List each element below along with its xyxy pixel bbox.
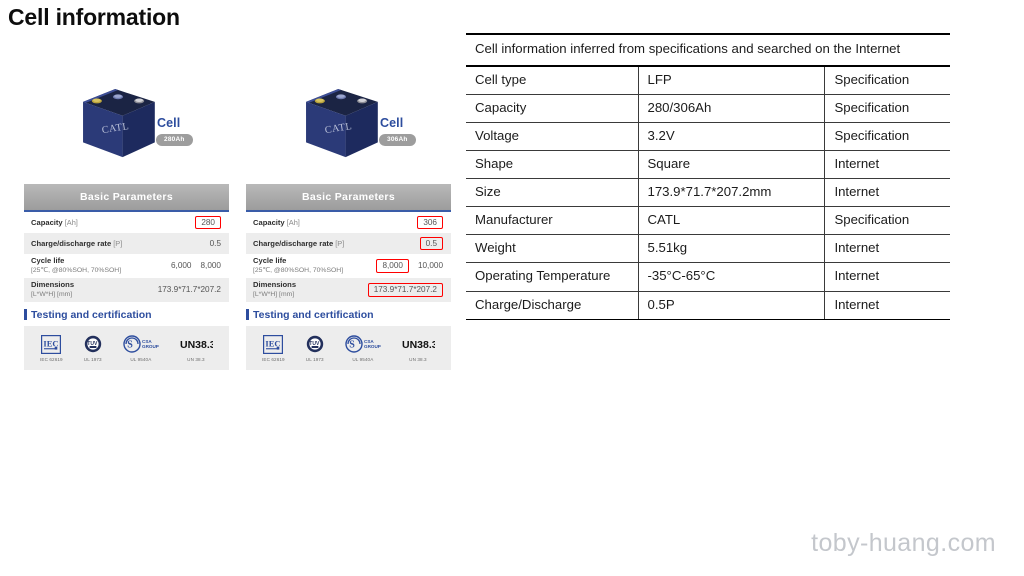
spec-row-values: 0.5 <box>420 237 443 251</box>
spec-row-dimensions: Dimensions [L*W*H] [mm] 173.9*71.7*207.2 <box>246 278 451 302</box>
table-cell-value: 173.9*71.7*207.2mm <box>638 179 825 207</box>
spec-label-text: Cycle life <box>253 256 286 265</box>
table-cell-key: Voltage <box>466 122 638 150</box>
svg-text:GROUP: GROUP <box>142 344 159 349</box>
table-cell-key: Shape <box>466 151 638 179</box>
un383-logo-icon: UN38.3 <box>401 334 435 355</box>
svg-text:UN38.3: UN38.3 <box>402 339 435 351</box>
table-cell-key: Size <box>466 179 638 207</box>
accent-bar-icon <box>24 309 27 320</box>
svg-text:GROUP: GROUP <box>364 344 381 349</box>
table-cell-key: Manufacturer <box>466 207 638 235</box>
spec-row-cycle-life: Cycle life [25℃, @80%SOH, 70%SOH] 6,000 … <box>24 254 229 278</box>
table-row: Voltage 3.2V Specification <box>466 122 950 150</box>
table-body: Cell type LFP Specification Capacity 280… <box>466 66 950 319</box>
battery-cell-icon: CATL <box>72 78 164 170</box>
svg-text:UN38.3: UN38.3 <box>180 339 213 351</box>
cert-item-csa: SCSAGROUP UL 9540A <box>345 334 381 362</box>
spec-row-values: 8,000 10,000 <box>376 259 443 273</box>
spec-card-306: Basic Parameters Capacity [Ah] 306 Charg… <box>246 184 451 370</box>
cert-item-tuv: TUV UL 1973 <box>83 334 103 362</box>
tuv-logo-icon: TUV <box>83 334 103 355</box>
table-row: Shape Square Internet <box>466 151 950 179</box>
spec-row-label: Capacity [Ah] <box>253 218 300 227</box>
spec-row-dimensions: Dimensions [L*W*H] [mm] 173.9*71.7*207.2 <box>24 278 229 302</box>
spec-label-unit: [P] <box>113 239 122 248</box>
spec-value-highlighted: 280 <box>195 216 221 230</box>
cert-caption: UL 9540A <box>352 357 373 362</box>
csa-group-logo-icon: SCSAGROUP <box>345 334 381 355</box>
spec-value-highlighted: 306 <box>417 216 443 230</box>
testing-section-heading: Testing and certification <box>246 309 451 321</box>
table-cell-source: Internet <box>825 235 950 263</box>
spec-label-text: Cycle life <box>31 256 64 265</box>
accent-bar-icon <box>246 309 249 320</box>
table-row: Weight 5.51kg Internet <box>466 235 950 263</box>
spec-row-capacity: Capacity [Ah] 306 <box>246 212 451 233</box>
cell-information-table: Cell information inferred from specifica… <box>466 33 950 320</box>
cert-item-csa: SCSAGROUP UL 9540A <box>123 334 159 362</box>
spec-row-values: 280 <box>195 216 221 230</box>
spec-label-sub: [25℃, @80%SOH, 70%SOH] <box>253 267 343 274</box>
table-row: Manufacturer CATL Specification <box>466 207 950 235</box>
table-cell-source: Internet <box>825 151 950 179</box>
spec-card-280: Basic Parameters Capacity [Ah] 280 Charg… <box>24 184 229 370</box>
spec-label-text: Charge/discharge rate <box>31 239 111 248</box>
testing-section-heading: Testing and certification <box>24 309 229 321</box>
spec-row-label: Cycle life [25℃, @80%SOH, 70%SOH] <box>31 256 121 276</box>
spec-value: 6,000 <box>171 261 192 270</box>
spec-label-text: Charge/discharge rate <box>253 239 333 248</box>
cert-caption: IEC 62619 <box>262 357 285 362</box>
table-cell-value: CATL <box>638 207 825 235</box>
spec-label-text: Capacity <box>31 218 63 227</box>
cert-caption: UL 1973 <box>306 357 324 362</box>
table-cell-key: Cell type <box>466 66 638 95</box>
spec-label-unit: [Ah] <box>287 218 300 227</box>
spec-card-header: Basic Parameters <box>246 184 451 212</box>
table-row: Charge/Discharge 0.5P Internet <box>466 291 950 319</box>
table-cell-source: Internet <box>825 263 950 291</box>
spec-row-values: 173.9*71.7*207.2 <box>368 283 443 297</box>
table-row: Operating Temperature -35°C-65°C Interne… <box>466 263 950 291</box>
table-caption-row: Cell information inferred from specifica… <box>466 34 950 66</box>
table-cell-key: Weight <box>466 235 638 263</box>
cert-caption: UL 9540A <box>130 357 151 362</box>
cert-caption: UL 1973 <box>84 357 102 362</box>
spec-value: 10,000 <box>418 261 443 270</box>
certification-strip: IEC IEC 62619 TUV UL 1973 SCSAGROUP UL 9… <box>24 326 229 370</box>
table-row: Size 173.9*71.7*207.2mm Internet <box>466 179 950 207</box>
table-cell-value: Square <box>638 151 825 179</box>
table-cell-value: LFP <box>638 66 825 95</box>
testing-heading-label: Testing and certification <box>31 309 152 321</box>
table-cell-source: Specification <box>825 207 950 235</box>
table-cell-value: 280/306Ah <box>638 94 825 122</box>
table-cell-source: Specification <box>825 94 950 122</box>
table-caption: Cell information inferred from specifica… <box>466 34 950 66</box>
spec-row-label: Charge/discharge rate [P] <box>31 239 122 248</box>
table-cell-key: Capacity <box>466 94 638 122</box>
table-cell-value: 0.5P <box>638 291 825 319</box>
cert-item-un383: UN38.3 UN 38.3 <box>401 334 435 362</box>
spec-label-sub: [25℃, @80%SOH, 70%SOH] <box>31 267 121 274</box>
iec-logo-icon: IEC <box>41 334 61 355</box>
spec-row-charge-rate: Charge/discharge rate [P] 0.5 <box>24 233 229 254</box>
table-cell-source: Internet <box>825 179 950 207</box>
spec-value: 8,000 <box>201 261 222 270</box>
table-cell-value: -35°C-65°C <box>638 263 825 291</box>
spec-label-sub: [L*W*H] [mm] <box>31 291 72 298</box>
certification-strip: IEC IEC 62619 TUV UL 1973 SCSAGROUP UL 9… <box>246 326 451 370</box>
cert-item-tuv: TUV UL 1973 <box>305 334 325 362</box>
table-cell-source: Specification <box>825 66 950 95</box>
spec-label-text: Dimensions <box>253 280 296 289</box>
cell-label-280: Cell <box>157 116 180 130</box>
spec-label-sub: [L*W*H] [mm] <box>253 291 294 298</box>
spec-row-label: Capacity [Ah] <box>31 218 78 227</box>
spec-row-capacity: Capacity [Ah] 280 <box>24 212 229 233</box>
spec-row-label: Cycle life [25℃, @80%SOH, 70%SOH] <box>253 256 343 276</box>
site-watermark: toby-huang.com <box>811 529 996 558</box>
cert-caption: UN 38.3 <box>187 357 205 362</box>
cell-label-306: Cell <box>380 116 403 130</box>
spec-row-charge-rate: Charge/discharge rate [P] 0.5 <box>246 233 451 254</box>
spec-row-cycle-life: Cycle life [25℃, @80%SOH, 70%SOH] 8,000 … <box>246 254 451 278</box>
table-cell-source: Specification <box>825 122 950 150</box>
tuv-logo-icon: TUV <box>305 334 325 355</box>
spec-label-text: Dimensions <box>31 280 74 289</box>
un383-logo-icon: UN38.3 <box>179 334 213 355</box>
spec-card-header: Basic Parameters <box>24 184 229 212</box>
iec-logo-icon: IEC <box>263 334 283 355</box>
spec-row-values: 306 <box>417 216 443 230</box>
cert-item-un383: UN38.3 UN 38.3 <box>179 334 213 362</box>
page-title: Cell information <box>8 4 180 31</box>
spec-label-unit: [P] <box>335 239 344 248</box>
table-cell-value: 3.2V <box>638 122 825 150</box>
spec-row-values: 173.9*71.7*207.2 <box>158 285 221 294</box>
spec-row-label: Dimensions [L*W*H] [mm] <box>31 280 74 300</box>
svg-text:S: S <box>349 339 355 350</box>
spec-card-header-label: Basic Parameters <box>80 191 173 203</box>
spec-value-highlighted: 173.9*71.7*207.2 <box>368 283 443 297</box>
cert-item-iec: IEC IEC 62619 <box>40 334 63 362</box>
cert-item-iec: IEC IEC 62619 <box>262 334 285 362</box>
table-row: Capacity 280/306Ah Specification <box>466 94 950 122</box>
testing-heading-label: Testing and certification <box>253 309 374 321</box>
spec-label-unit: [Ah] <box>65 218 78 227</box>
table-row: Cell type LFP Specification <box>466 66 950 95</box>
spec-row-label: Charge/discharge rate [P] <box>253 239 344 248</box>
cell-illustration-306: CATL Cell 306Ah <box>295 78 425 173</box>
spec-row-values: 6,000 8,000 <box>171 261 221 270</box>
cell-capacity-badge-280: 280Ah <box>156 134 193 146</box>
spec-card-header-label: Basic Parameters <box>302 191 395 203</box>
spec-label-text: Capacity <box>253 218 285 227</box>
svg-text:S: S <box>127 339 133 350</box>
spec-value: 173.9*71.7*207.2 <box>158 285 221 294</box>
spec-row-values: 0.5 <box>210 239 221 248</box>
battery-cell-icon: CATL <box>295 78 387 170</box>
cert-caption: UN 38.3 <box>409 357 427 362</box>
table-cell-key: Charge/Discharge <box>466 291 638 319</box>
spec-value: 0.5 <box>210 239 221 248</box>
table-cell-source: Internet <box>825 291 950 319</box>
cell-capacity-badge-306: 306Ah <box>379 134 416 146</box>
csa-group-logo-icon: SCSAGROUP <box>123 334 159 355</box>
spec-row-label: Dimensions [L*W*H] [mm] <box>253 280 296 300</box>
cell-illustration-280: CATL Cell 280Ah <box>72 78 202 173</box>
spec-value-highlighted: 8,000 <box>376 259 409 273</box>
cert-caption: IEC 62619 <box>40 357 63 362</box>
spec-value-highlighted: 0.5 <box>420 237 443 251</box>
table-cell-value: 5.51kg <box>638 235 825 263</box>
table-cell-key: Operating Temperature <box>466 263 638 291</box>
